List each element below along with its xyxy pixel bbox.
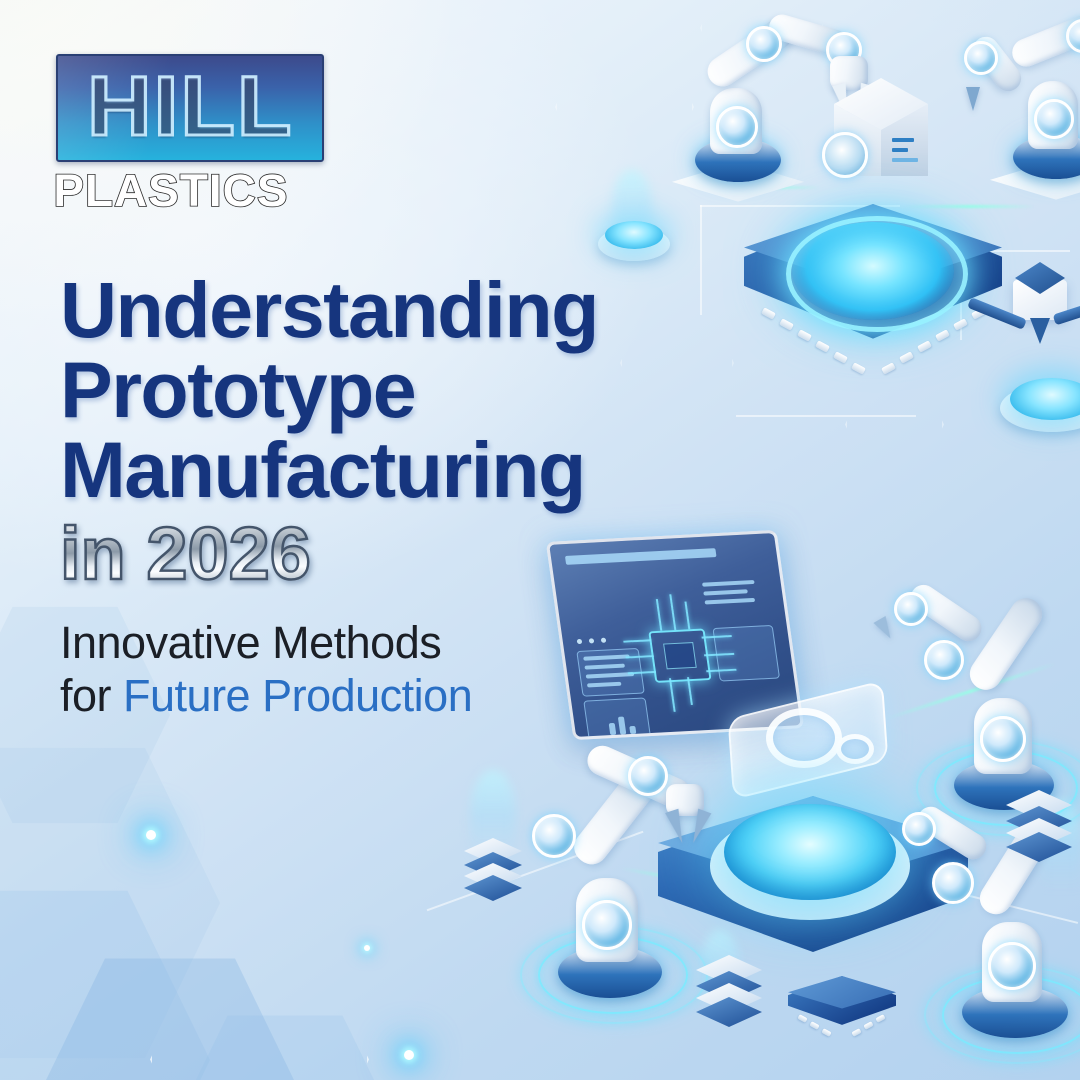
- subtitle-block: Innovative Methods for Future Production: [60, 617, 710, 721]
- logo-primary-text: HILL: [87, 64, 293, 152]
- glow-node: [364, 945, 370, 951]
- subtitle-line-1: Innovative Methods: [60, 617, 710, 669]
- material-stack: [458, 838, 548, 928]
- logo-box: HILL: [56, 54, 324, 162]
- subtitle-accent: Future Production: [123, 670, 472, 721]
- circuit-trace: [736, 415, 916, 417]
- headline-line-3: Manufacturing: [60, 432, 710, 508]
- material-stack: [690, 955, 780, 1045]
- material-stack: [1000, 790, 1080, 880]
- build-plate-right: [1000, 370, 1080, 440]
- microchip-small: [780, 968, 910, 1058]
- headline-year: in 2026: [60, 517, 710, 591]
- subtitle-prefix: for: [60, 670, 123, 721]
- poster-canvas: HILL PLASTICS Understanding Prototype Ma…: [0, 0, 1080, 1080]
- brand-logo[interactable]: HILL PLASTICS: [56, 54, 324, 213]
- glow-puck: [598, 215, 678, 271]
- logo-secondary-text: PLASTICS: [53, 168, 326, 213]
- headline-block: Understanding Prototype Manufacturing in…: [60, 272, 710, 722]
- glow-node: [404, 1050, 414, 1060]
- headline-line-2: Prototype: [60, 352, 710, 428]
- subtitle-line-2: for Future Production: [60, 670, 710, 722]
- glow-node: [146, 830, 156, 840]
- microchip-large: [722, 182, 1022, 412]
- headline-line-1: Understanding: [60, 272, 710, 348]
